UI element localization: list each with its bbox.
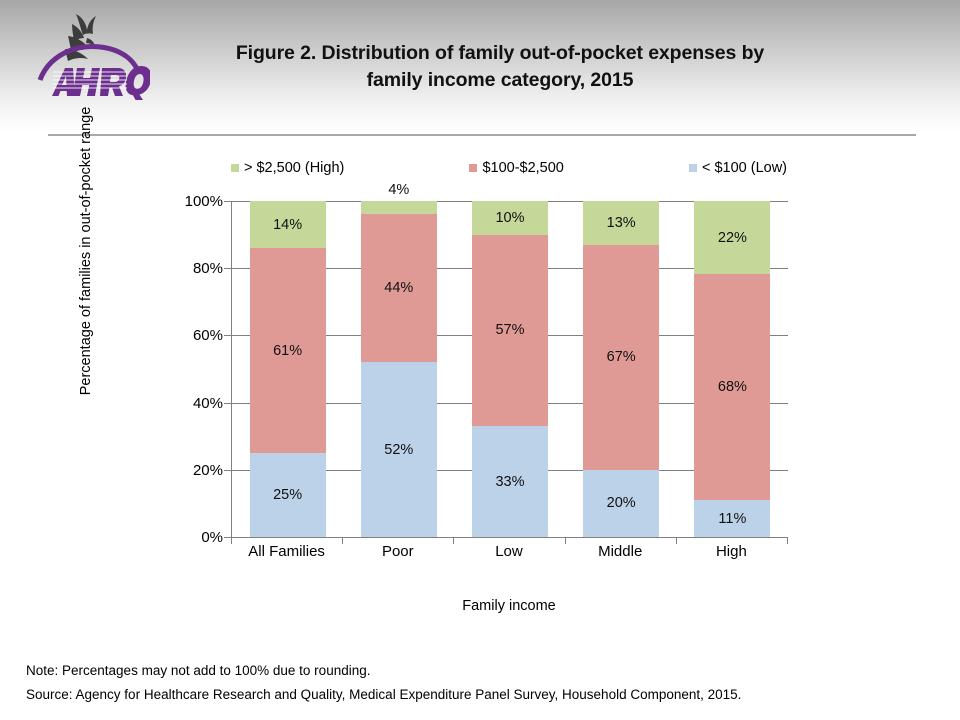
y-axis-label: 0% <box>153 530 223 545</box>
bar-value-label: 22% <box>718 231 747 245</box>
bar-value-label: 52% <box>384 443 413 457</box>
x-axis-line <box>231 537 788 538</box>
x-axis-category-high: High <box>676 543 787 560</box>
y-axis-label: 100% <box>153 194 223 209</box>
x-axis-title: Family income <box>231 598 787 614</box>
bar-segment[interactable]: 13% <box>583 201 659 245</box>
legend-label-low: < $100 (Low) <box>702 160 787 176</box>
bar-value-label: 14% <box>273 218 302 232</box>
y-axis-title: Percentage of families in out-of-pocket … <box>78 101 94 401</box>
bar-segment[interactable]: 11% <box>694 500 770 537</box>
bar-value-label: 4% <box>388 183 409 197</box>
y-axis-label: 80% <box>153 261 223 276</box>
bar-segment[interactable]: 44% <box>361 214 437 362</box>
y-axis-label: 40% <box>153 396 223 411</box>
header-divider <box>48 134 916 136</box>
bar-segment[interactable]: 25% <box>250 453 326 537</box>
hhs-eagle-icon <box>65 14 96 61</box>
bar-segment[interactable]: 10% <box>472 201 548 235</box>
bar-segment[interactable]: 33% <box>472 426 548 537</box>
plot-area: 25%61%14%52%44%4%33%57%10%20%67%13%11%68… <box>231 201 788 537</box>
legend-swatch-low <box>689 164 697 172</box>
bar-value-label: 68% <box>718 380 747 394</box>
bar-middle[interactable]: 20%67%13% <box>583 201 659 537</box>
x-axis-tick <box>787 537 788 544</box>
legend-item-high[interactable]: > $2,500 (High) <box>231 160 344 176</box>
legend-label-high: > $2,500 (High) <box>244 160 344 176</box>
bar-low[interactable]: 33%57%10% <box>472 201 548 537</box>
x-axis-category-all-families: All Families <box>231 543 342 560</box>
legend-label-mid: $100-$2,500 <box>482 160 563 176</box>
page-title: Figure 2. Distribution of family out-of-… <box>150 40 850 94</box>
bar-segment[interactable]: 68% <box>694 274 770 500</box>
y-axis-tick <box>224 470 231 471</box>
ahrq-logo <box>32 8 150 104</box>
y-axis-tick <box>224 403 231 404</box>
x-axis-tick <box>565 537 566 544</box>
y-axis-tick <box>224 201 231 202</box>
legend-item-low[interactable]: < $100 (Low) <box>689 160 787 176</box>
chart-legend: > $2,500 (High) $100-$2,500 < $100 (Low) <box>231 158 787 178</box>
page-header: Figure 2. Distribution of family out-of-… <box>0 0 960 132</box>
bar-segment[interactable]: 67% <box>583 245 659 470</box>
bar-segment[interactable]: 22% <box>694 201 770 274</box>
x-axis-tick <box>342 537 343 544</box>
bar-poor[interactable]: 52%44%4% <box>361 201 437 537</box>
page-title-line-1: Figure 2. Distribution of family out-of-… <box>236 42 764 64</box>
bar-all-families[interactable]: 25%61%14% <box>250 201 326 537</box>
y-axis-tick <box>224 335 231 336</box>
x-axis-category-middle: Middle <box>565 543 676 560</box>
bar-value-label: 25% <box>273 488 302 502</box>
y-axis-label: 20% <box>153 463 223 478</box>
bar-value-label: 33% <box>495 475 524 489</box>
bar-segment[interactable]: 20% <box>583 470 659 537</box>
bar-value-label: 11% <box>718 512 746 526</box>
bar-segment[interactable]: 61% <box>250 248 326 453</box>
bar-value-label: 10% <box>495 211 524 225</box>
ahrq-logo-svg <box>32 8 150 104</box>
y-axis-tick <box>224 268 231 269</box>
bar-value-label: 20% <box>607 496 636 510</box>
x-axis-tick <box>231 537 232 544</box>
bar-segment[interactable]: 14% <box>250 201 326 248</box>
bar-segment[interactable]: 4% <box>361 201 437 214</box>
bar-segment[interactable]: 57% <box>472 235 548 427</box>
page-title-line-2: family income category, 2015 <box>367 69 634 91</box>
x-axis-tick <box>676 537 677 544</box>
x-axis-category-poor: Poor <box>342 543 453 560</box>
footnote-source: Source: Agency for Healthcare Research a… <box>26 683 926 707</box>
bar-value-label: 61% <box>273 344 302 358</box>
bar-value-label: 67% <box>607 350 636 364</box>
bar-segment[interactable]: 52% <box>361 362 437 537</box>
legend-swatch-mid <box>469 164 477 172</box>
bar-value-label: 44% <box>384 281 413 295</box>
y-axis-tick <box>224 537 231 538</box>
x-axis-tick <box>453 537 454 544</box>
x-axis-category-low: Low <box>453 543 564 560</box>
footnote-note: Note: Percentages may not add to 100% du… <box>26 659 926 683</box>
legend-swatch-high <box>231 164 239 172</box>
legend-item-mid[interactable]: $100-$2,500 <box>469 160 563 176</box>
bar-high[interactable]: 11%68%22% <box>694 201 770 537</box>
bar-value-label: 13% <box>607 216 636 230</box>
chart-footnotes: Note: Percentages may not add to 100% du… <box>26 659 926 707</box>
ahrq-wordmark <box>52 66 150 100</box>
y-axis-label: 60% <box>153 328 223 343</box>
bar-value-label: 57% <box>495 323 524 337</box>
